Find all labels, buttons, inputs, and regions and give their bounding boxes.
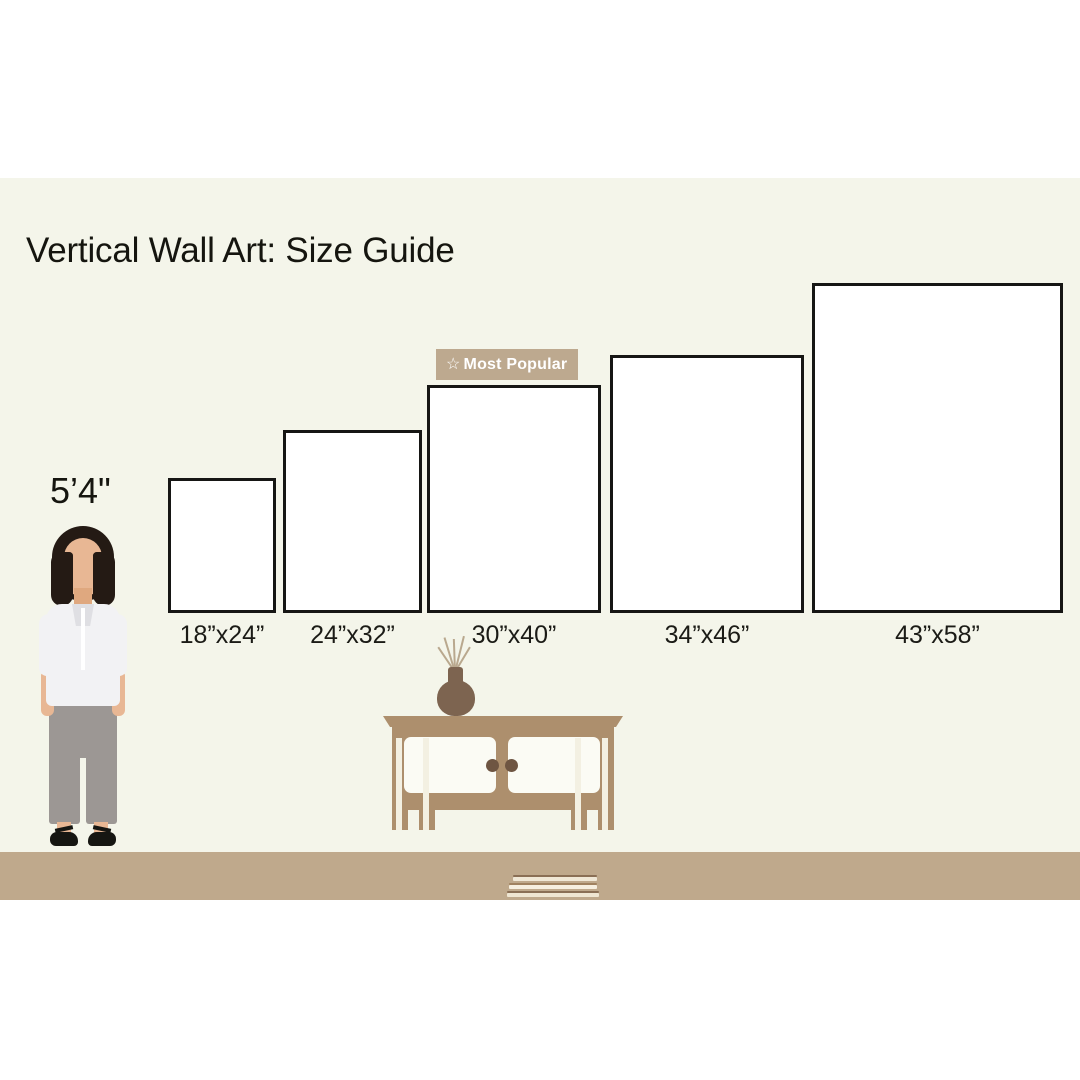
book-cover-1 xyxy=(513,875,597,877)
pant-leg-right xyxy=(86,756,117,824)
vase-body xyxy=(437,680,475,716)
table-top xyxy=(383,716,623,727)
leg-gap xyxy=(80,758,86,824)
size-guide-scene: Vertical Wall Art: Size Guide 5’4" 18”x2… xyxy=(0,178,1080,900)
shirt-placket xyxy=(81,608,85,670)
frame-size-label: 34”x46” xyxy=(610,621,804,650)
person-height-label: 5’4" xyxy=(50,470,111,512)
console-table xyxy=(383,716,623,852)
book-pages-3 xyxy=(507,893,599,897)
shoe-left xyxy=(50,832,78,846)
bottom-white-band xyxy=(0,900,1080,1080)
cabinet-door-left xyxy=(404,737,496,793)
book-pages-2 xyxy=(509,885,597,889)
frame-size-label: 18”x24” xyxy=(168,621,276,650)
hair-left xyxy=(51,552,73,606)
table-leg-highlight-3 xyxy=(575,738,581,830)
star-icon: ☆ xyxy=(446,356,461,373)
shoe-right xyxy=(88,832,116,846)
table-leg-highlight-2 xyxy=(423,738,429,830)
door-knob-left xyxy=(486,759,499,772)
door-knob-right xyxy=(505,759,518,772)
book-stack xyxy=(507,875,599,900)
top-white-band xyxy=(0,0,1080,178)
sleeve-left xyxy=(39,614,61,676)
book-cover-3 xyxy=(507,891,599,893)
art-frame-18in-by-24in[interactable] xyxy=(168,478,276,613)
sleeve-right xyxy=(105,614,127,676)
most-popular-badge[interactable]: ☆Most Popular xyxy=(436,349,578,380)
book-cover-2 xyxy=(509,883,597,885)
person-silhouette xyxy=(22,526,144,852)
table-leg-highlight-4 xyxy=(602,738,608,830)
frame-size-label: 43”x58” xyxy=(812,621,1063,650)
cabinet-door-right xyxy=(508,737,600,793)
art-frame-30in-by-40in[interactable] xyxy=(427,385,601,613)
art-frame-24in-by-32in[interactable] xyxy=(283,430,422,613)
art-frame-34in-by-46in[interactable] xyxy=(610,355,804,613)
most-popular-label: Most Popular xyxy=(464,356,568,373)
pant-leg-left xyxy=(49,756,80,824)
frame-size-label: 24”x32” xyxy=(283,621,422,650)
page-title: Vertical Wall Art: Size Guide xyxy=(26,231,455,271)
table-leg-highlight-1 xyxy=(396,738,402,830)
hair-right xyxy=(93,552,115,606)
book-pages-1 xyxy=(513,877,597,881)
art-frame-43in-by-58in[interactable] xyxy=(812,283,1063,613)
vase-with-branches xyxy=(428,640,482,718)
